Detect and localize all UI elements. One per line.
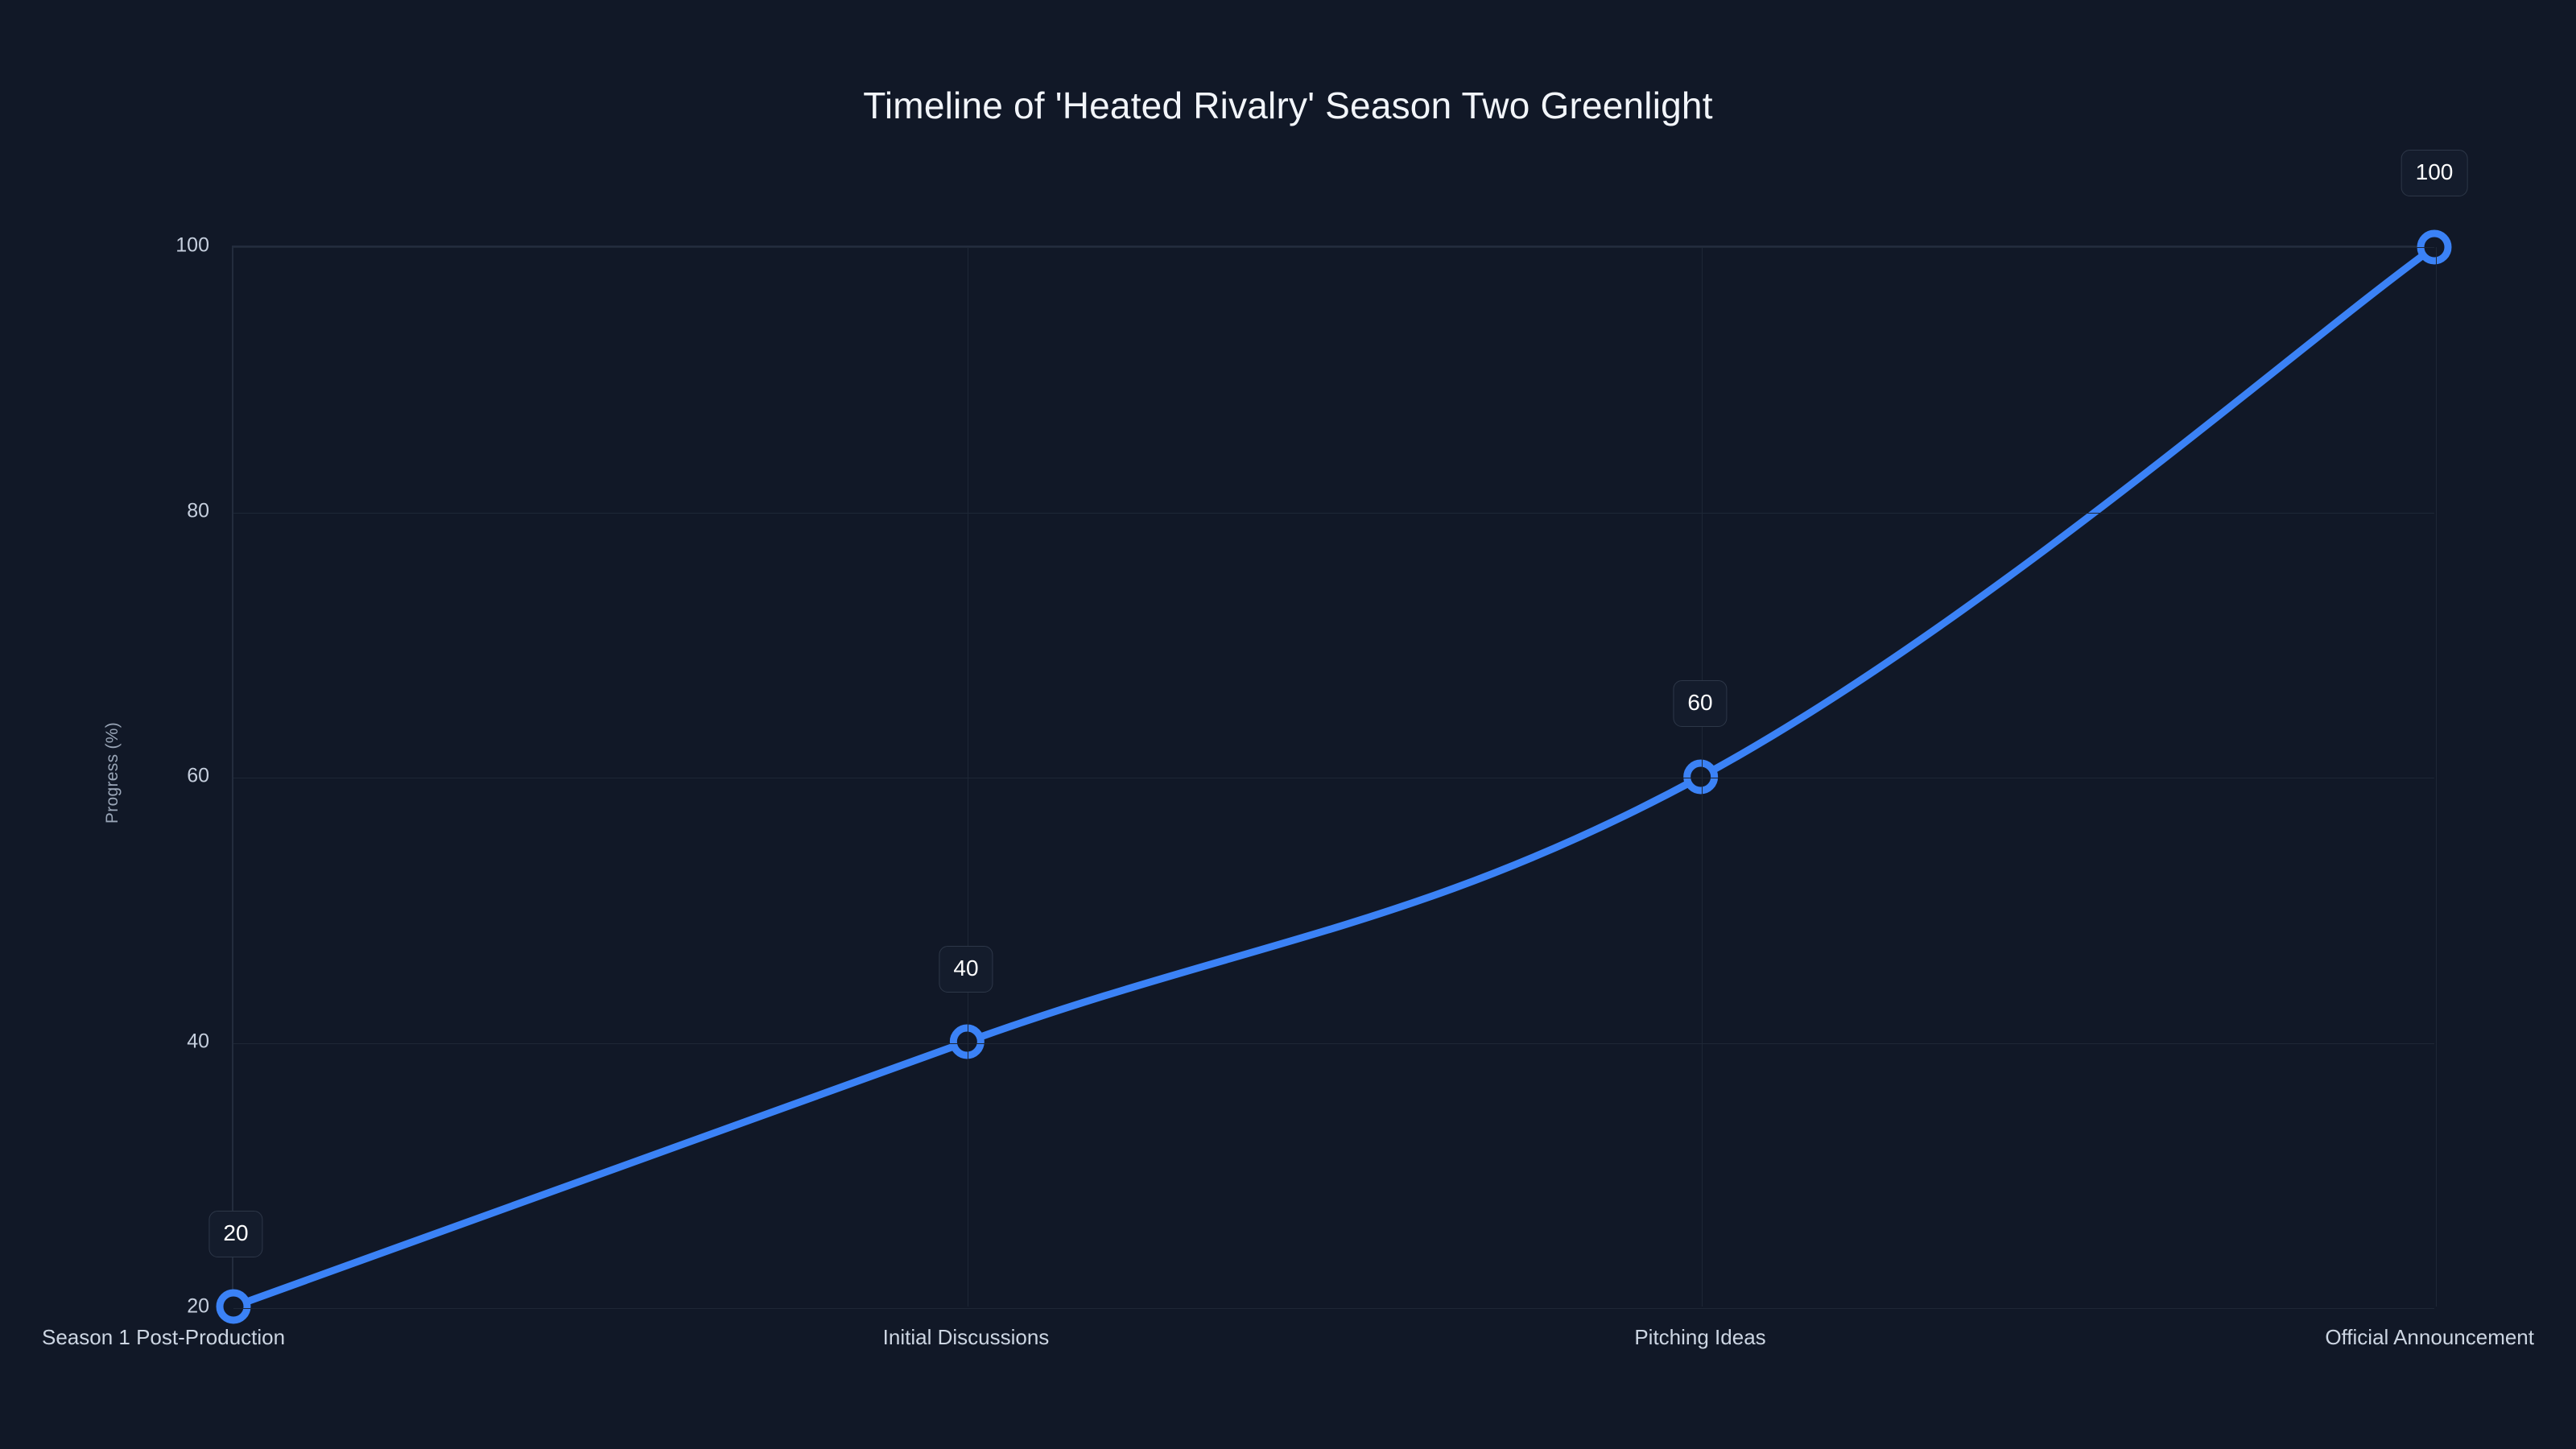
data-label-layer: 204060100 <box>0 0 2576 1449</box>
data-point-value-badge: 60 <box>1673 680 1727 727</box>
data-point-value-badge: 20 <box>208 1211 262 1257</box>
chart-canvas: Timeline of 'Heated Rivalry' Season Two … <box>0 0 2576 1449</box>
data-point-value-badge: 40 <box>939 946 993 993</box>
data-point-value-badge: 100 <box>2401 150 2468 196</box>
